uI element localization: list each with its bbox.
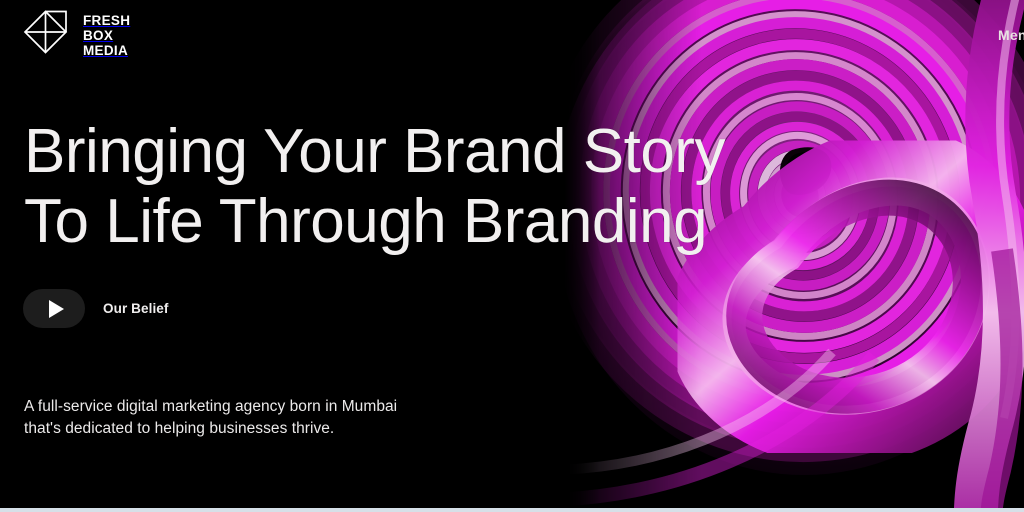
play-button[interactable] [23,289,85,328]
hero-subtext: A full-service digital marketing agency … [24,396,397,440]
hero-section: FRESH BOX MEDIA Menu Bringing Your Brand… [0,0,1024,508]
logo[interactable]: FRESH BOX MEDIA [22,8,130,63]
page-root: FRESH BOX MEDIA Menu Bringing Your Brand… [0,0,1024,512]
site-header: FRESH BOX MEDIA Menu [0,0,1024,76]
play-triangle-icon [49,300,64,318]
diamond-square-logo-icon [22,8,70,63]
our-belief-row: Our Belief [23,289,169,328]
page-title: Bringing Your Brand Story To Life Throug… [24,117,725,257]
page-bottom-strip [0,508,1024,512]
our-belief-label[interactable]: Our Belief [103,301,169,316]
logo-wordmark: FRESH BOX MEDIA [83,13,130,58]
menu-button[interactable]: Menu [998,27,1024,43]
